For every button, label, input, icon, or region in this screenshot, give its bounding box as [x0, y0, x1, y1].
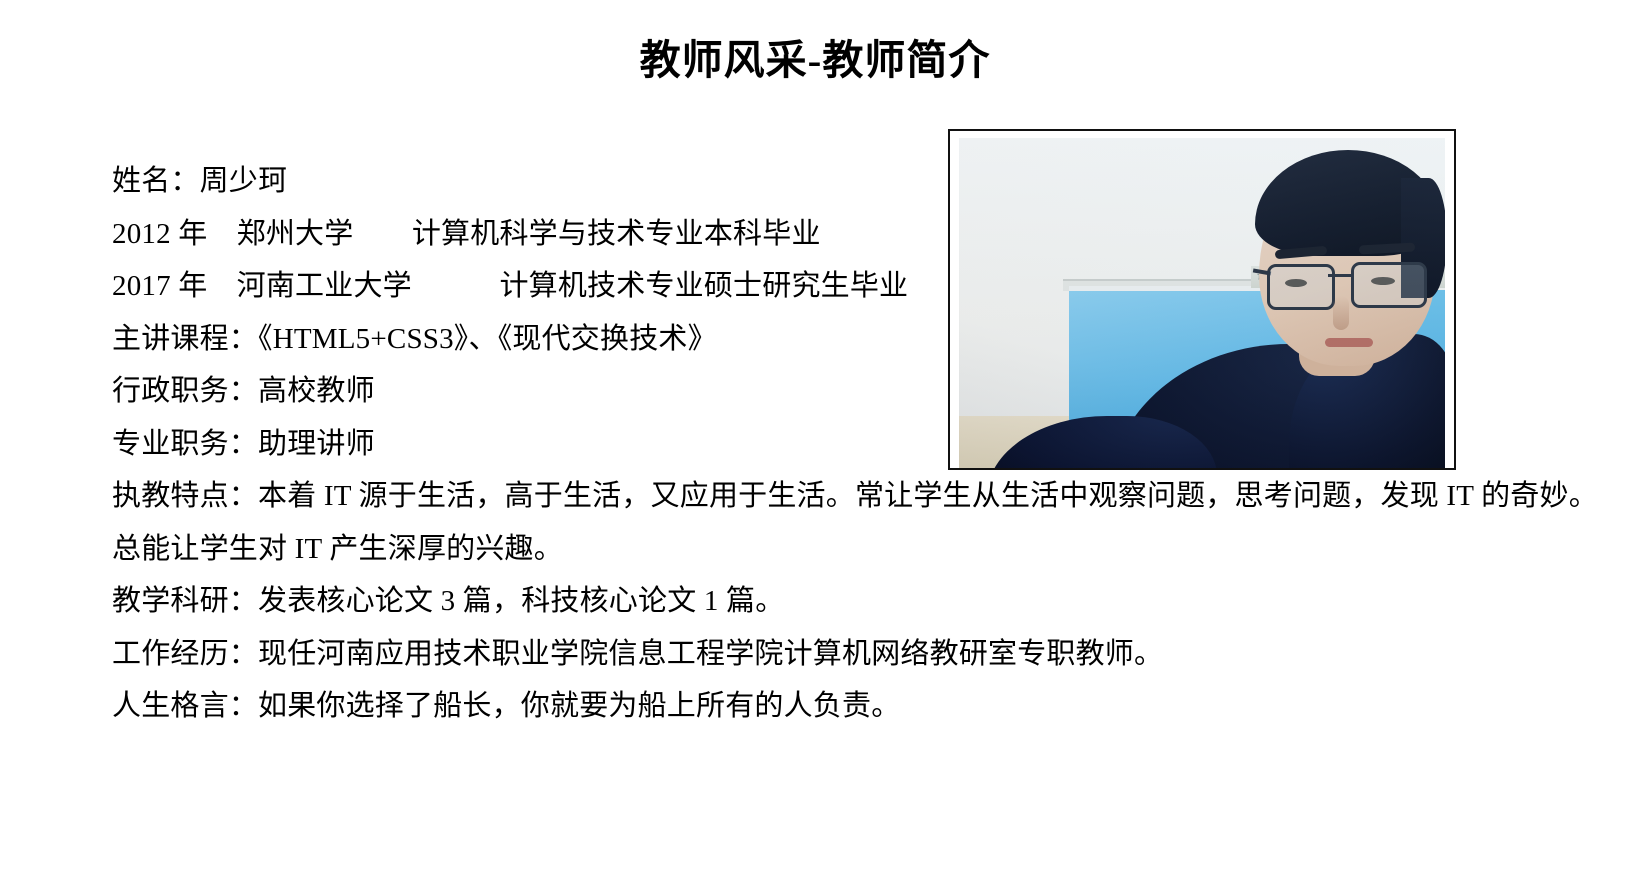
profile-line-motto: 人生格言：如果你选择了船长，你就要为船上所有的人负责。 [112, 680, 1612, 733]
profile-page: 教师风采-教师简介 姓名：周少珂 2012 年 郑州大学 计算机科学与技术专业本… [0, 0, 1630, 876]
photo-glasses-left-lens [1267, 264, 1335, 310]
profile-line-research: 教学科研：发表核心论文 3 篇，科技核心论文 1 篇。 [112, 575, 1612, 628]
teacher-photo-image: 计算机网络教研室工作会议 [959, 138, 1445, 468]
profile-line-experience: 工作经历：现任河南应用技术职业学院信息工程学院计算机网络教研室专职教师。 [112, 628, 1612, 681]
teacher-photo: 计算机网络教研室工作会议 [948, 129, 1456, 470]
photo-glasses-right-lens [1351, 262, 1427, 308]
profile-line-teaching-style: 执教特点：本着 IT 源于生活，高于生活，又应用于生活。常让学生从生活中观察问题… [112, 470, 1612, 523]
profile-line-teaching-style-cont: 总能让学生对 IT 产生深厚的兴趣。 [112, 523, 1612, 576]
photo-glasses-bridge [1328, 274, 1353, 277]
photo-person-mouth [1325, 338, 1373, 347]
photo-person-nose [1333, 296, 1349, 330]
page-title: 教师风采-教师简介 [0, 34, 1630, 86]
